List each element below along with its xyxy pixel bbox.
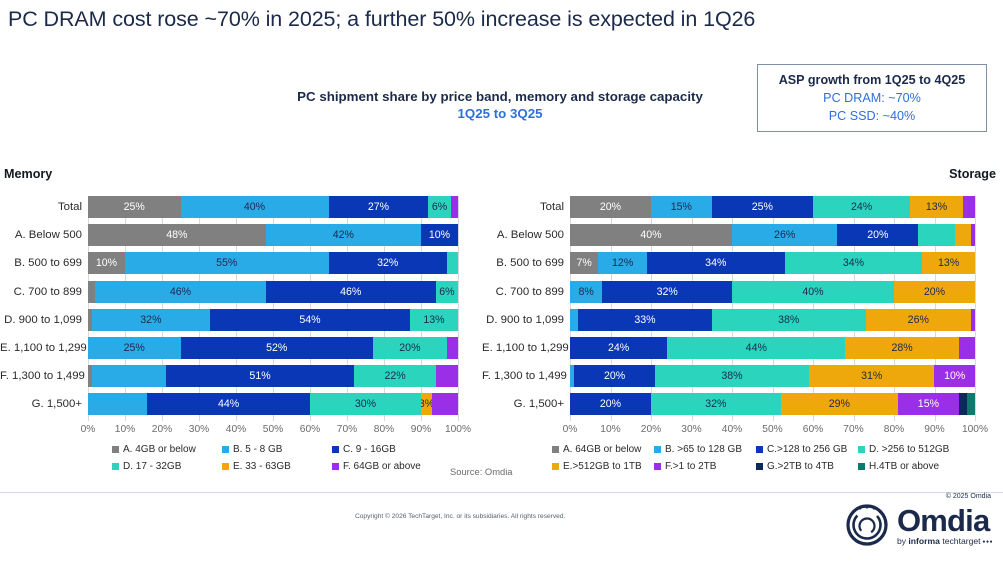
- axis-tick-label: 100%: [445, 424, 471, 435]
- legend-swatch-icon: [552, 463, 559, 470]
- storage-chart: Total20%15%25%24%13%A. Below 50040%26%20…: [482, 196, 1003, 421]
- stacked-bar[interactable]: 10%55%32%: [88, 252, 458, 274]
- memory-panel-header: Memory: [4, 167, 52, 181]
- bar-segment[interactable]: 13%: [922, 252, 975, 274]
- chart-row: G. 1,500+20%32%29%15%: [482, 393, 1003, 415]
- stacked-bar[interactable]: 51%22%: [88, 365, 458, 387]
- row-category-label: G. 1,500+: [0, 393, 82, 415]
- stacked-bar[interactable]: 8%32%40%20%: [570, 281, 975, 303]
- stacked-bar[interactable]: 25%40%27%6%: [88, 196, 458, 218]
- bar-segment[interactable]: 20%: [894, 281, 975, 303]
- bar-segment[interactable]: 6%: [436, 281, 458, 303]
- stacked-bar[interactable]: 25%52%20%: [88, 337, 458, 359]
- legend-item[interactable]: A. 64GB or below: [552, 444, 654, 455]
- storage-legend: A. 64GB or belowB. >65 to 128 GBC.>128 t…: [552, 444, 960, 478]
- storage-bar-rows: Total20%15%25%24%13%A. Below 50040%26%20…: [482, 196, 1003, 421]
- chart-row: D. 900 to 1,09932%54%13%: [0, 309, 480, 331]
- axis-tick-label: 50%: [762, 424, 782, 435]
- bar-segment[interactable]: [88, 393, 147, 415]
- legend-swatch-icon: [222, 446, 229, 453]
- bar-segment[interactable]: 10%: [88, 252, 125, 274]
- legend-swatch-icon: [858, 463, 865, 470]
- axis-tick-label: 80%: [884, 424, 904, 435]
- row-category-label: A. Below 500: [0, 224, 82, 246]
- bar-segment[interactable]: 15%: [898, 393, 959, 415]
- axis-tick-label: 30%: [681, 424, 701, 435]
- row-category-label: B. 500 to 699: [0, 252, 82, 274]
- legend-item[interactable]: B. 5 - 8 GB: [222, 444, 332, 455]
- axis-tick-label: 10%: [600, 424, 620, 435]
- legend-item[interactable]: C. 9 - 16GB: [332, 444, 442, 455]
- row-category-label: G. 1,500+: [482, 393, 564, 415]
- row-category-label: D. 900 to 1,099: [482, 309, 564, 331]
- omdia-tagline-prefix: by: [897, 536, 908, 546]
- legend-swatch-icon: [654, 463, 661, 470]
- stacked-bar[interactable]: 20%38%31%10%: [570, 365, 975, 387]
- bar-segment[interactable]: 54%: [210, 309, 410, 331]
- bar-segment[interactable]: 20%: [373, 337, 447, 359]
- bar-segment[interactable]: 33%: [578, 309, 712, 331]
- chart-row: D. 900 to 1,09933%38%26%: [482, 309, 1003, 331]
- axis-tick-label: 90%: [411, 424, 431, 435]
- bar-segment[interactable]: 34%: [785, 252, 923, 274]
- bar-segment[interactable]: [88, 281, 95, 303]
- legend-label: A. 64GB or below: [563, 444, 641, 455]
- chart-row: F. 1,300 to 1,49951%22%: [0, 365, 480, 387]
- omdia-logo: Omdia by informa techtarget: [845, 502, 993, 551]
- axis-tick-label: 90%: [924, 424, 944, 435]
- legend-swatch-icon: [112, 446, 119, 453]
- axis-tick-label: 100%: [962, 424, 988, 435]
- bar-segment[interactable]: 32%: [92, 309, 210, 331]
- row-category-label: F. 1,300 to 1,499: [482, 365, 564, 387]
- bar-segment[interactable]: 20%: [570, 196, 651, 218]
- bar-segment[interactable]: [570, 309, 578, 331]
- chart-row: G. 1,500+44%30%3%: [0, 393, 480, 415]
- row-category-label: C. 700 to 899: [0, 281, 82, 303]
- bar-segment[interactable]: 24%: [570, 337, 667, 359]
- chart-subtitle: PC shipment share by price band, memory …: [250, 88, 750, 122]
- legend-swatch-icon: [332, 446, 339, 453]
- legend-label: F.>1 to 2TB: [665, 461, 716, 472]
- legend-label: C. 9 - 16GB: [343, 444, 396, 455]
- bar-segment[interactable]: 40%: [570, 224, 732, 246]
- memory-chart: Total25%40%27%6%A. Below 50048%42%10%B. …: [0, 196, 480, 421]
- bar-segment[interactable]: [959, 393, 967, 415]
- legend-item[interactable]: C.>128 to 256 GB: [756, 444, 858, 455]
- legend-swatch-icon: [654, 446, 661, 453]
- row-category-label: A. Below 500: [482, 224, 564, 246]
- legend-swatch-icon: [756, 463, 763, 470]
- legend-label: C.>128 to 256 GB: [767, 444, 847, 455]
- omdia-tagline: by informa techtarget: [897, 536, 993, 547]
- subtitle-line-1: PC shipment share by price band, memory …: [250, 88, 750, 105]
- axis-tick-label: 60%: [300, 424, 320, 435]
- bar-segment[interactable]: 32%: [329, 252, 447, 274]
- memory-x-axis: 0%10%20%30%40%50%60%70%80%90%100%: [88, 424, 458, 440]
- bar-segment[interactable]: 13%: [910, 196, 963, 218]
- legend-item[interactable]: A. 4GB or below: [112, 444, 222, 455]
- chart-row: Total20%15%25%24%13%: [482, 196, 1003, 218]
- chart-row: C. 700 to 89946%46%6%: [0, 281, 480, 303]
- bar-segment[interactable]: 38%: [712, 309, 866, 331]
- bar-segment[interactable]: 10%: [934, 365, 975, 387]
- bar-segment[interactable]: 44%: [147, 393, 310, 415]
- bar-segment[interactable]: [436, 365, 458, 387]
- bar-segment[interactable]: [432, 393, 458, 415]
- chart-row: E. 1,100 to 1,29925%52%20%: [0, 337, 480, 359]
- bar-segment[interactable]: 26%: [732, 224, 837, 246]
- footer-divider: [0, 492, 1003, 493]
- legend-item[interactable]: G.>2TB to 4TB: [756, 461, 858, 472]
- bar-segment[interactable]: 44%: [667, 337, 845, 359]
- row-category-label: D. 900 to 1,099: [0, 309, 82, 331]
- row-category-label: E. 1,100 to 1,299: [482, 337, 564, 359]
- axis-tick-label: 20%: [152, 424, 172, 435]
- bar-segment[interactable]: 32%: [602, 281, 732, 303]
- omdia-tagline-rest: techtarget: [940, 536, 981, 546]
- storage-plot-area: Total20%15%25%24%13%A. Below 50040%26%20…: [482, 196, 1003, 421]
- row-category-label: F. 1,300 to 1,499: [0, 365, 82, 387]
- omdia-mark-icon: [845, 502, 891, 551]
- stacked-bar[interactable]: 33%38%26%: [570, 309, 975, 331]
- memory-bar-rows: Total25%40%27%6%A. Below 50048%42%10%B. …: [0, 196, 480, 421]
- bar-segment[interactable]: [963, 196, 975, 218]
- bar-segment[interactable]: 13%: [410, 309, 458, 331]
- legend-item[interactable]: E.>512GB to 1TB: [552, 461, 654, 472]
- legend-label: D. 17 - 32GB: [123, 461, 181, 472]
- bar-segment[interactable]: 20%: [570, 393, 651, 415]
- bar-segment[interactable]: [447, 337, 458, 359]
- legend-label: B. >65 to 128 GB: [665, 444, 742, 455]
- bar-segment[interactable]: 48%: [88, 224, 266, 246]
- row-category-label: E. 1,100 to 1,299: [0, 337, 82, 359]
- legend-label: H.4TB or above: [869, 461, 939, 472]
- bar-segment[interactable]: 22%: [354, 365, 435, 387]
- chart-row: C. 700 to 8998%32%40%20%: [482, 281, 1003, 303]
- bar-segment[interactable]: 40%: [732, 281, 894, 303]
- legend-item[interactable]: F.>1 to 2TB: [654, 461, 756, 472]
- bar-segment[interactable]: [967, 393, 975, 415]
- legend-swatch-icon: [332, 463, 339, 470]
- legend-item[interactable]: D. >256 to 512GB: [858, 444, 960, 455]
- bar-segment[interactable]: 34%: [647, 252, 785, 274]
- bar-segment[interactable]: 30%: [310, 393, 421, 415]
- bar-segment[interactable]: 6%: [428, 196, 450, 218]
- axis-tick-label: 80%: [374, 424, 394, 435]
- legend-swatch-icon: [552, 446, 559, 453]
- bar-segment[interactable]: 25%: [88, 196, 181, 218]
- bar-segment[interactable]: 31%: [809, 365, 935, 387]
- legend-swatch-icon: [756, 446, 763, 453]
- axis-tick-label: 50%: [263, 424, 283, 435]
- legend-label: G.>2TB to 4TB: [767, 461, 834, 472]
- bar-segment[interactable]: 46%: [266, 281, 436, 303]
- omdia-copyright: © 2025 Omdia: [946, 493, 991, 500]
- bar-segment[interactable]: 52%: [181, 337, 373, 359]
- legend-item[interactable]: H.4TB or above: [858, 461, 960, 472]
- chart-row: E. 1,100 to 1,29924%44%28%: [482, 337, 1003, 359]
- bar-segment[interactable]: 15%: [651, 196, 712, 218]
- legend-label: D. >256 to 512GB: [869, 444, 949, 455]
- copyright-text: Copyright © 2026 TechTarget, Inc. or its…: [355, 513, 565, 520]
- bar-segment[interactable]: [971, 224, 975, 246]
- bar-segment[interactable]: 10%: [421, 224, 458, 246]
- subtitle-line-2: 1Q25 to 3Q25: [250, 105, 750, 122]
- axis-tick-label: 40%: [722, 424, 742, 435]
- bar-segment[interactable]: [451, 196, 458, 218]
- storage-x-axis: 0%10%20%30%40%50%60%70%80%90%100%: [570, 424, 975, 440]
- legend-item[interactable]: E. 33 - 63GB: [222, 461, 332, 472]
- bar-segment[interactable]: 20%: [837, 224, 918, 246]
- legend-label: E. 33 - 63GB: [233, 461, 291, 472]
- axis-tick-label: 20%: [641, 424, 661, 435]
- asp-dram-value: PC DRAM: ~70%: [758, 89, 986, 107]
- axis-tick-label: 60%: [803, 424, 823, 435]
- bar-segment[interactable]: 42%: [266, 224, 421, 246]
- stacked-bar[interactable]: 20%32%29%15%: [570, 393, 975, 415]
- asp-box-title: ASP growth from 1Q25 to 4Q25: [758, 71, 986, 89]
- stacked-bar[interactable]: 44%30%3%: [88, 393, 458, 415]
- asp-ssd-value: PC SSD: ~40%: [758, 107, 986, 125]
- legend-swatch-icon: [858, 446, 865, 453]
- bar-segment[interactable]: 46%: [95, 281, 265, 303]
- legend-label: B. 5 - 8 GB: [233, 444, 282, 455]
- axis-tick-label: 70%: [337, 424, 357, 435]
- bar-segment[interactable]: 20%: [574, 365, 655, 387]
- bar-segment[interactable]: 12%: [598, 252, 647, 274]
- bar-segment[interactable]: 3%: [421, 393, 432, 415]
- row-category-label: B. 500 to 699: [482, 252, 564, 274]
- bar-segment[interactable]: 7%: [570, 252, 598, 274]
- bar-segment[interactable]: 27%: [329, 196, 429, 218]
- bar-segment[interactable]: 55%: [125, 252, 329, 274]
- legend-label: A. 4GB or below: [123, 444, 196, 455]
- chart-row: B. 500 to 6997%12%34%34%13%: [482, 252, 1003, 274]
- chart-row: Total25%40%27%6%: [0, 196, 480, 218]
- slide-root: PC DRAM cost rose ~70% in 2025; a furthe…: [0, 0, 1003, 562]
- legend-label: E.>512GB to 1TB: [563, 461, 642, 472]
- memory-legend: A. 4GB or belowB. 5 - 8 GBC. 9 - 16GBD. …: [112, 444, 442, 478]
- row-category-label: Total: [482, 196, 564, 218]
- legend-swatch-icon: [222, 463, 229, 470]
- bar-segment[interactable]: 51%: [166, 365, 355, 387]
- stacked-bar[interactable]: 48%42%10%: [88, 224, 458, 246]
- axis-tick-label: 0%: [563, 424, 578, 435]
- stacked-bar[interactable]: 24%44%28%: [570, 337, 975, 359]
- chart-row: F. 1,300 to 1,49920%38%31%10%: [482, 365, 1003, 387]
- stacked-bar[interactable]: 20%15%25%24%13%: [570, 196, 975, 218]
- chart-row: A. Below 50040%26%20%: [482, 224, 1003, 246]
- bar-segment[interactable]: [971, 309, 975, 331]
- legend-item[interactable]: B. >65 to 128 GB: [654, 444, 756, 455]
- legend-swatch-icon: [112, 463, 119, 470]
- axis-tick-label: 40%: [226, 424, 246, 435]
- bar-segment[interactable]: [918, 224, 954, 246]
- stacked-bar[interactable]: 46%46%6%: [88, 281, 458, 303]
- row-category-label: Total: [0, 196, 82, 218]
- omdia-logo-text-group: Omdia by informa techtarget: [897, 506, 993, 547]
- stacked-bar[interactable]: 7%12%34%34%13%: [570, 252, 975, 274]
- bar-segment[interactable]: 24%: [813, 196, 910, 218]
- memory-plot-area: Total25%40%27%6%A. Below 50048%42%10%B. …: [0, 196, 480, 421]
- row-category-label: C. 700 to 899: [482, 281, 564, 303]
- axis-tick-label: 30%: [189, 424, 209, 435]
- bar-segment[interactable]: [447, 252, 458, 274]
- stacked-bar[interactable]: 32%54%13%: [88, 309, 458, 331]
- page-title: PC DRAM cost rose ~70% in 2025; a furthe…: [8, 7, 755, 32]
- bar-segment[interactable]: 8%: [570, 281, 602, 303]
- omdia-wordmark: Omdia: [897, 506, 993, 536]
- bar-segment[interactable]: 32%: [651, 393, 781, 415]
- bar-segment[interactable]: 25%: [712, 196, 813, 218]
- bar-segment[interactable]: [955, 224, 971, 246]
- bar-segment[interactable]: 29%: [781, 393, 898, 415]
- legend-item[interactable]: F. 64GB or above: [332, 461, 442, 472]
- omdia-tagline-bold: informa: [908, 536, 940, 546]
- chart-row: A. Below 50048%42%10%: [0, 224, 480, 246]
- storage-panel-header: Storage: [949, 167, 996, 181]
- axis-tick-label: 10%: [115, 424, 135, 435]
- stacked-bar[interactable]: 40%26%20%: [570, 224, 975, 246]
- axis-tick-label: 70%: [843, 424, 863, 435]
- asp-growth-box: ASP growth from 1Q25 to 4Q25 PC DRAM: ~7…: [757, 64, 987, 132]
- legend-label: F. 64GB or above: [343, 461, 421, 472]
- bar-segment[interactable]: 25%: [88, 337, 181, 359]
- axis-tick-label: 0%: [81, 424, 96, 435]
- bar-segment[interactable]: 38%: [655, 365, 809, 387]
- bar-segment[interactable]: [959, 337, 975, 359]
- source-note: Source: Omdia: [450, 466, 513, 477]
- bar-segment[interactable]: 40%: [181, 196, 329, 218]
- bar-segment[interactable]: 28%: [845, 337, 958, 359]
- bar-segment[interactable]: 26%: [866, 309, 971, 331]
- bar-segment[interactable]: [92, 365, 166, 387]
- legend-item[interactable]: D. 17 - 32GB: [112, 461, 222, 472]
- chart-row: B. 500 to 69910%55%32%: [0, 252, 480, 274]
